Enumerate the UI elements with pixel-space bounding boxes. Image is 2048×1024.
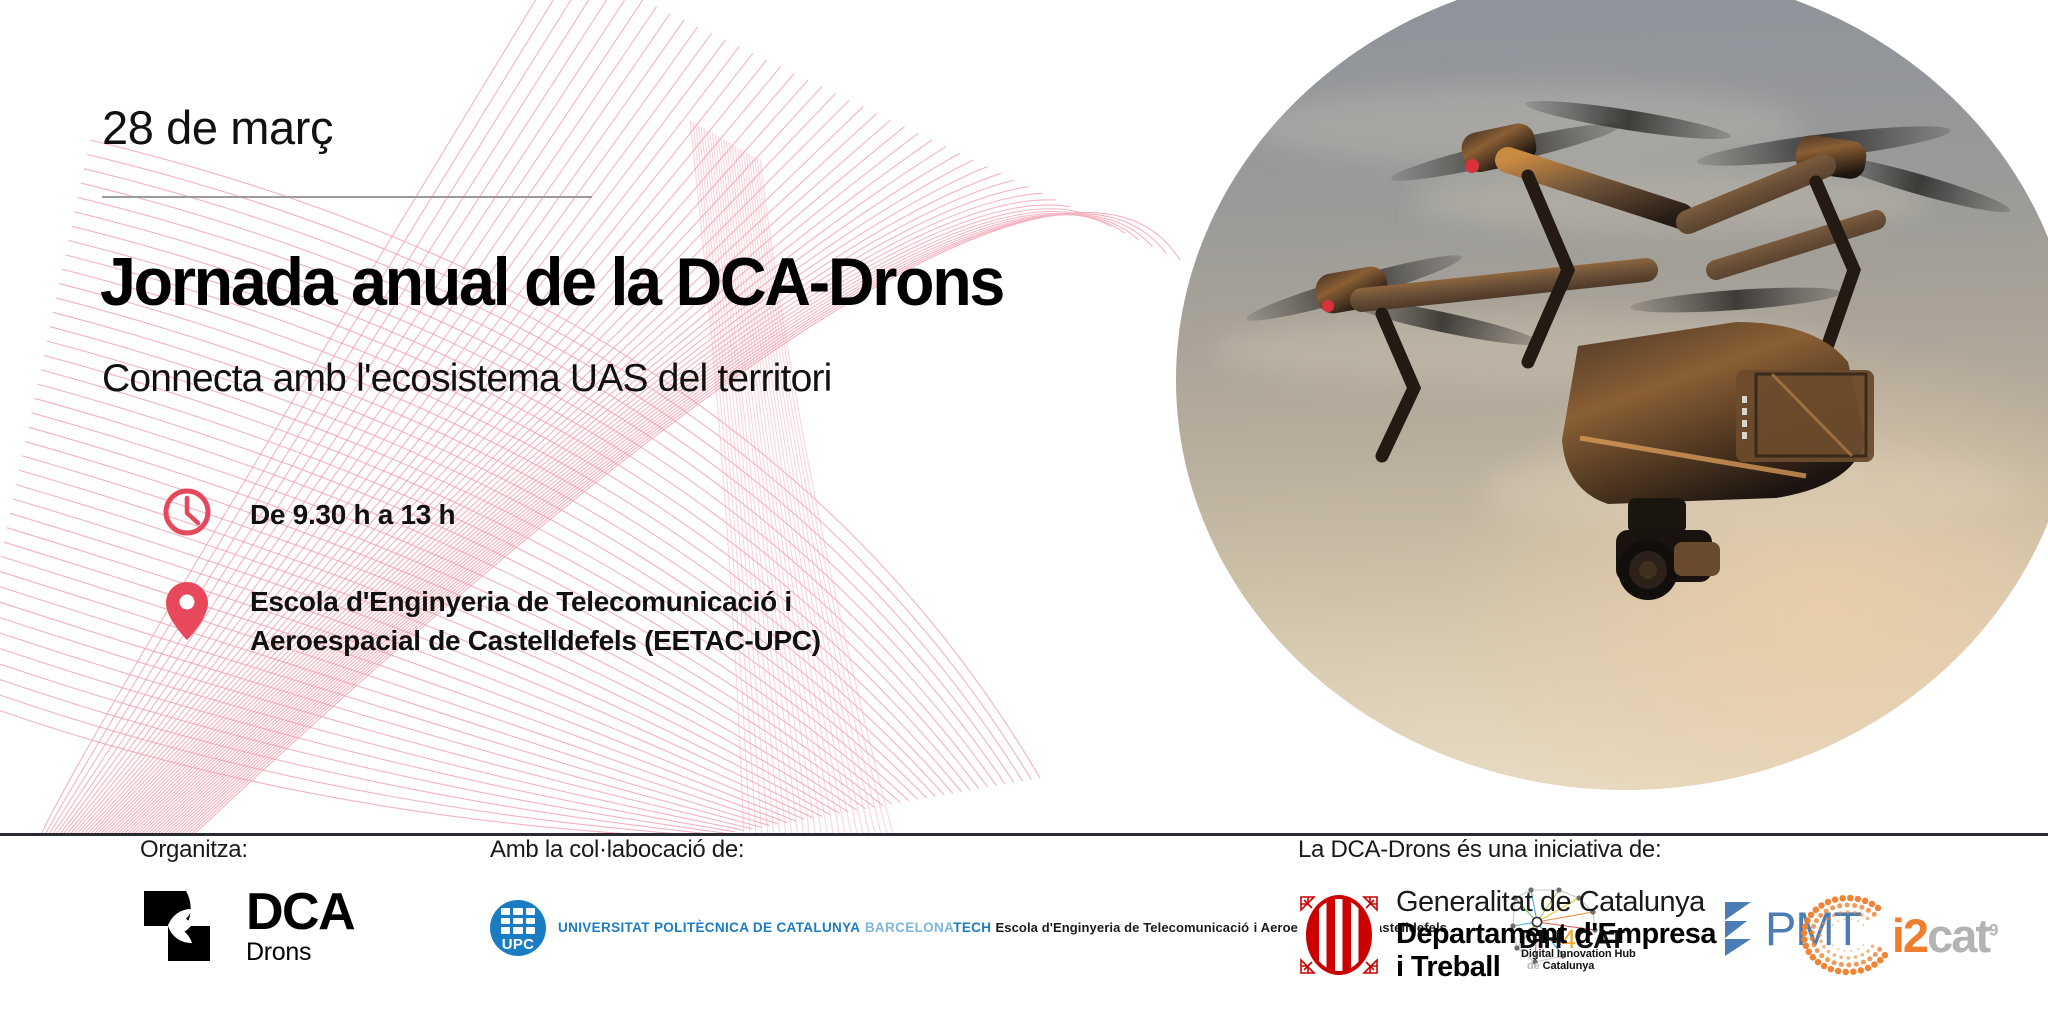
upc-dot-grid: [501, 908, 535, 934]
map-pin-icon: [160, 578, 214, 644]
venue-line-2: Aeroespacial de Castelldefels (EETAC-UPC…: [250, 625, 821, 656]
dca-wordmark: DCA Drons: [246, 886, 354, 965]
dca-name: DCA: [246, 886, 354, 938]
initiative-label: La DCA-Drons és una iniciativa de:: [1298, 836, 2036, 864]
generalitat-shield-icon: [1298, 894, 1380, 976]
dca-drons-logo: DCA Drons: [140, 886, 354, 965]
event-poster: 28 de març Jornada anual de la DCA-Drons…: [0, 0, 2048, 1024]
event-date: 28 de març: [102, 100, 333, 155]
drone-photo: [1176, 0, 2048, 790]
drone-illustration: [1176, 0, 2048, 790]
venue-line-1: Escola d'Enginyeria de Telecomunicació i: [250, 586, 792, 617]
page-title: Jornada anual de la DCA-Drons: [100, 243, 1003, 321]
footer-group-organitza: Organitza:: [140, 836, 354, 965]
event-venue-text: Escola d'Enginyeria de Telecomunicació i…: [250, 578, 821, 660]
i2cat-cat: cat: [1927, 909, 1989, 962]
date-divider: [102, 196, 592, 198]
generalitat-line-2: Departament d'Empresa: [1396, 918, 1716, 950]
i2cat-swirl-icon: [1796, 894, 1900, 976]
clock-icon: [160, 485, 214, 539]
footer-group-initiative: La DCA-Drons és una iniciativa de:: [1298, 836, 2036, 983]
upc-abbreviation: UPC: [490, 936, 546, 953]
i2cat-logo: i2cat9: [1796, 894, 2036, 976]
organitza-label: Organitza:: [140, 836, 354, 864]
event-time-text: De 9.30 h a 13 h: [250, 485, 455, 535]
upc-line-3: Escola d'Enginyeria de Telecomunicació: [995, 920, 1249, 935]
upc-mark-icon: UPC: [490, 900, 546, 956]
i2cat-i2: i2: [1892, 909, 1927, 962]
event-subtitle: Connecta amb l'ecosistema UAS del territ…: [102, 357, 832, 401]
event-time-row: De 9.30 h a 13 h: [160, 485, 455, 539]
upc-line-1: UNIVERSITAT POLITÈCNICA DE CATALUNYA: [558, 920, 860, 935]
generalitat-logo: Generalitat de Catalunya Departament d'E…: [1298, 886, 1716, 983]
hero-image-container: [1148, 0, 2048, 850]
dca-mark-icon: [140, 887, 232, 965]
upc-barcelona: BARCELONA: [865, 920, 953, 935]
i2cat-superscript: 9: [1989, 920, 1998, 939]
upc-tech: TECH: [953, 920, 991, 935]
poster-content: 28 de març Jornada anual de la DCA-Drons…: [0, 0, 1150, 838]
i2cat-wordmark: i2cat9: [1892, 912, 1999, 959]
footer: Organitza:: [0, 836, 2048, 1024]
generalitat-line-3: i Treball: [1396, 951, 1500, 983]
generalitat-line-1: Generalitat de Catalunya: [1396, 886, 1705, 918]
upc-line-2: BARCELONATECH: [865, 920, 996, 935]
event-venue-row: Escola d'Enginyeria de Telecomunicació i…: [160, 578, 821, 660]
dca-tagline: Drons: [246, 940, 354, 965]
generalitat-wordmark: Generalitat de Catalunya Departament d'E…: [1396, 886, 1716, 983]
